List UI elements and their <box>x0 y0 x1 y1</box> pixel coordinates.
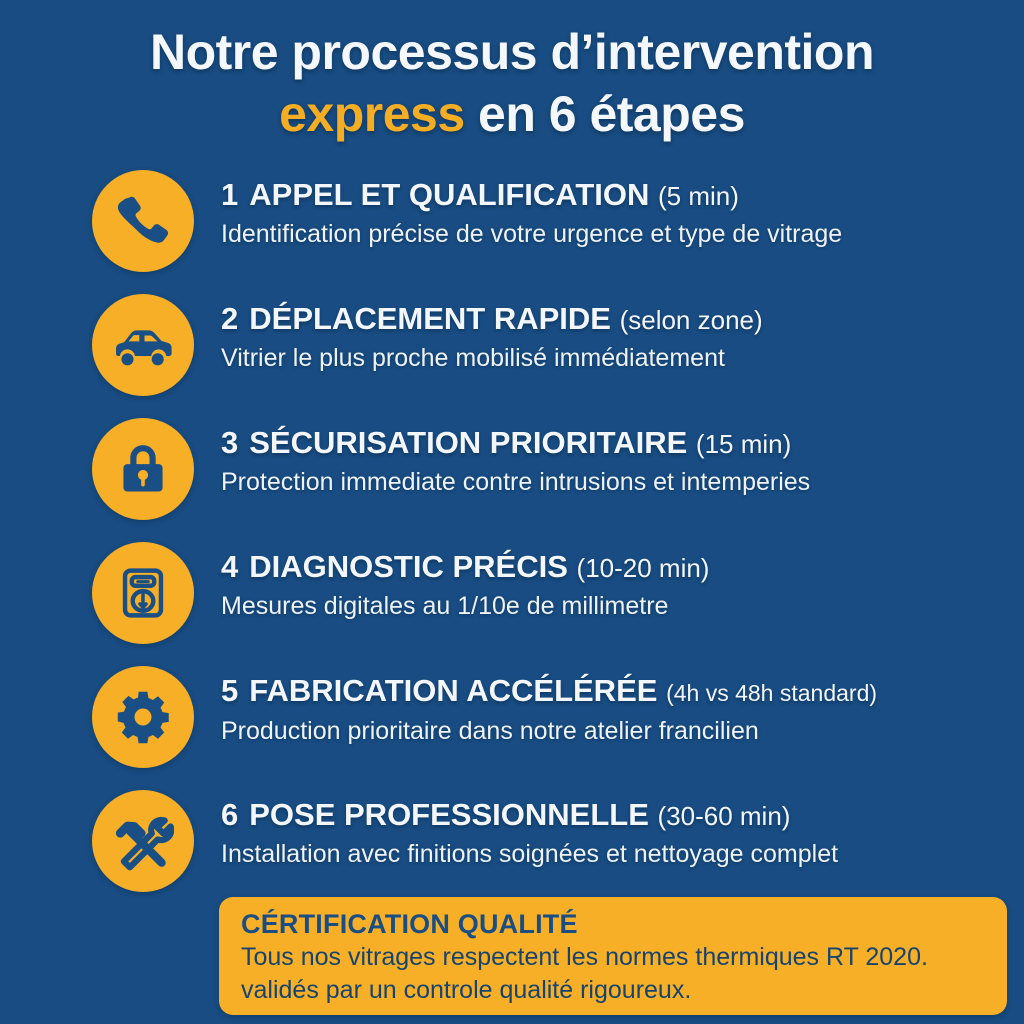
step-icon-badge <box>92 294 194 396</box>
step-heading: 3SÉCURISATION PRIORITAIRE (15 min) <box>221 424 1014 463</box>
step-number: 3 <box>221 425 238 460</box>
step-number: 5 <box>221 673 238 708</box>
step-number: 1 <box>221 177 238 212</box>
step-heading: 2DÉPLACEMENT RAPIDE (selon zone) <box>221 300 1014 339</box>
step-icon-badge <box>92 790 194 892</box>
step-heading: 1APPEL ET QUALIFICATION (5 min) <box>221 176 1014 215</box>
step-text: 4DIAGNOSTIC PRÉCIS (10-20 min) Mesures d… <box>221 548 1014 622</box>
step-name: FABRICATION ACCÉLÉRÉE <box>249 673 657 708</box>
step-name: DIAGNOSTIC PRÉCIS <box>249 549 568 584</box>
certification-title: CÉRTIFICATION QUALITÉ <box>241 908 987 941</box>
infographic-poster: Notre processus d’intervention express e… <box>0 0 1024 1024</box>
step-number: 6 <box>221 797 238 832</box>
step-description: Installation avec finitions soignées et … <box>221 838 1014 870</box>
steps-list: 1APPEL ET QUALIFICATION (5 min) Identifi… <box>0 166 1024 910</box>
step-text: 1APPEL ET QUALIFICATION (5 min) Identifi… <box>221 176 1014 250</box>
step-duration: (15 min) <box>696 429 791 459</box>
certification-banner: CÉRTIFICATION QUALITÉ Tous nos vitrages … <box>219 897 1007 1015</box>
step-row: 5FABRICATION ACCÉLÉRÉE (4h vs 48h standa… <box>0 662 1024 786</box>
step-heading: 5FABRICATION ACCÉLÉRÉE (4h vs 48h standa… <box>221 672 1014 712</box>
step-duration: (5 min) <box>658 181 739 211</box>
title-line-2: express en 6 étapes <box>0 84 1024 144</box>
step-description: Vitrier le plus proche mobilisé immédiat… <box>221 342 1014 374</box>
step-icon-badge <box>92 542 194 644</box>
step-duration: (4h vs 48h standard) <box>666 680 877 706</box>
step-text: 3SÉCURISATION PRIORITAIRE (15 min) Prote… <box>221 424 1014 498</box>
certification-line-2: validés par un controle qualité rigoureu… <box>241 974 987 1007</box>
step-name: APPEL ET QUALIFICATION <box>249 177 649 212</box>
step-description: Identification précise de votre urgence … <box>221 218 1014 250</box>
title-accent-word: express <box>279 86 465 142</box>
step-name: POSE PROFESSIONNELLE <box>249 797 649 832</box>
step-text: 2DÉPLACEMENT RAPIDE (selon zone) Vitrier… <box>221 300 1014 374</box>
step-row: 2DÉPLACEMENT RAPIDE (selon zone) Vitrier… <box>0 290 1024 414</box>
step-heading: 4DIAGNOSTIC PRÉCIS (10-20 min) <box>221 548 1014 587</box>
step-row: 3SÉCURISATION PRIORITAIRE (15 min) Prote… <box>0 414 1024 538</box>
hammer-wrench-icon <box>112 810 174 872</box>
step-icon-badge <box>92 418 194 520</box>
step-number: 2 <box>221 301 238 336</box>
phone-icon <box>113 191 173 251</box>
step-row: 1APPEL ET QUALIFICATION (5 min) Identifi… <box>0 166 1024 290</box>
step-icon-badge <box>92 170 194 272</box>
step-number: 4 <box>221 549 238 584</box>
page-title: Notre processus d’intervention express e… <box>0 22 1024 144</box>
step-row: 6POSE PROFESSIONNELLE (30-60 min) Instal… <box>0 786 1024 910</box>
title-line-2-rest: en 6 étapes <box>465 86 745 142</box>
step-description: Protection immediate contre intrusions e… <box>221 466 1014 498</box>
step-icon-badge <box>92 666 194 768</box>
padlock-icon <box>114 440 172 498</box>
step-duration: (30-60 min) <box>658 801 791 831</box>
step-row: 4DIAGNOSTIC PRÉCIS (10-20 min) Mesures d… <box>0 538 1024 662</box>
step-name: DÉPLACEMENT RAPIDE <box>249 301 611 336</box>
certification-line-1: Tous nos vitrages respectent les normes … <box>241 941 987 974</box>
step-duration: (selon zone) <box>620 305 763 335</box>
gear-icon <box>113 687 173 747</box>
measuring-device-icon <box>115 565 171 621</box>
step-name: SÉCURISATION PRIORITAIRE <box>249 425 687 460</box>
step-text: 6POSE PROFESSIONNELLE (30-60 min) Instal… <box>221 796 1014 870</box>
step-heading: 6POSE PROFESSIONNELLE (30-60 min) <box>221 796 1014 835</box>
step-description: Mesures digitales au 1/10e de millimetre <box>221 590 1014 622</box>
title-line-1: Notre processus d’intervention <box>0 22 1024 82</box>
step-duration: (10-20 min) <box>577 553 710 583</box>
step-text: 5FABRICATION ACCÉLÉRÉE (4h vs 48h standa… <box>221 672 1014 747</box>
step-description: Production prioritaire dans notre atelie… <box>221 715 1014 747</box>
car-icon <box>110 312 176 378</box>
